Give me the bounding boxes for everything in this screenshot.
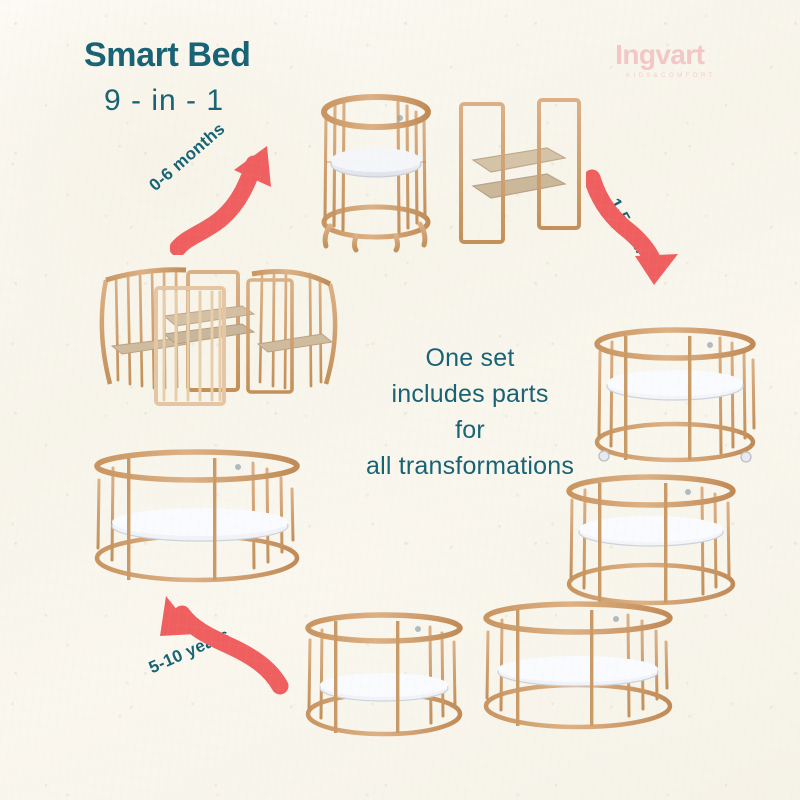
center-message-line-3: for: [355, 412, 585, 448]
product-cradle-parts: [455, 100, 583, 252]
page-subtitle: 9 - in - 1: [104, 84, 224, 118]
product-long-sofa-bed: [90, 448, 305, 590]
center-message-line-1: One set: [355, 340, 585, 376]
product-wide-toddler-bed: [478, 600, 678, 735]
product-disassembled-set: [92, 262, 340, 404]
center-message: One set includes parts for all transform…: [355, 340, 585, 484]
brand-logo-name: Ingvart: [604, 41, 715, 69]
product-small-sofa-bed: [300, 612, 468, 740]
product-oval-crib: [560, 474, 742, 612]
brand-logo-tagline: KIDS&COMFORT: [626, 72, 715, 79]
arrow-5-10-years-icon: [152, 590, 297, 705]
brand-logo: Ingvart KIDS&COMFORT: [604, 41, 715, 79]
center-message-line-2: includes parts: [355, 376, 585, 412]
center-message-line-4: all transformations: [355, 448, 585, 484]
page-title: Smart Bed: [84, 36, 250, 75]
arrow-0-6-months-icon: [170, 140, 300, 260]
poster-canvas: Smart Bed 9 - in - 1 Ingvart KIDS&COMFOR…: [0, 0, 800, 800]
arrow-1-5-years-icon: [586, 168, 696, 293]
product-round-cradle: [316, 92, 436, 254]
product-oval-crib-wheels: [588, 326, 763, 471]
